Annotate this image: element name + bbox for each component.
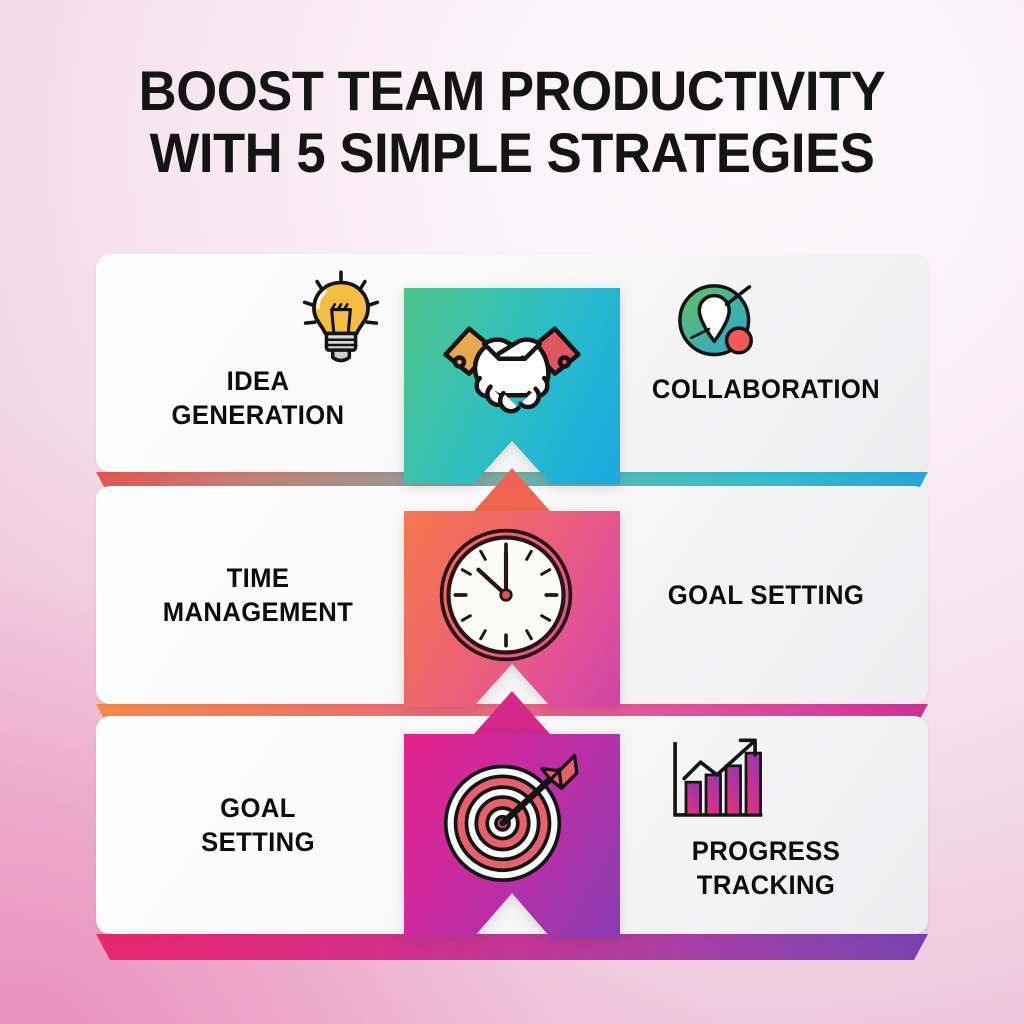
card-3-right-label: PROGRESS TRACKING [627, 716, 904, 934]
card-1-left-label-text: IDEA GENERATION [172, 364, 345, 432]
card-3-right-label-text: PROGRESS TRACKING [692, 834, 840, 902]
infographic-poster: BOOST TEAM PRODUCTIVITY WITH 5 SIMPLE ST… [0, 0, 1024, 1024]
card-1-left-label: IDEA GENERATION [119, 254, 396, 472]
card-2-right-label: GOAL SETTING [627, 486, 904, 704]
title-line-2: WITH 5 SIMPLE STRATEGIES [31, 122, 994, 184]
center-tile-goal-setting [404, 734, 620, 938]
clock-icon [437, 526, 587, 676]
target-arrow-icon [437, 749, 587, 899]
card-2-right-label-text: GOAL SETTING [668, 578, 864, 612]
card-2-left-label: TIME MANAGEMENT [119, 486, 396, 704]
card-1-right-label-text: COLLABORATION [652, 372, 880, 406]
center-tile-time-management [404, 511, 620, 707]
card-3-left-label-text: GOAL SETTING [201, 791, 315, 859]
handshake-icon [437, 303, 587, 453]
card-2-left-label-text: TIME MANAGEMENT [163, 561, 353, 629]
title-line-1: BOOST TEAM PRODUCTIVITY [31, 60, 994, 122]
card-3-left-label: GOAL SETTING [119, 716, 396, 934]
poster-title: BOOST TEAM PRODUCTIVITY WITH 5 SIMPLE ST… [0, 60, 1024, 184]
card-1-right-label: COLLABORATION [627, 254, 904, 472]
center-tile-collaboration [404, 288, 620, 484]
